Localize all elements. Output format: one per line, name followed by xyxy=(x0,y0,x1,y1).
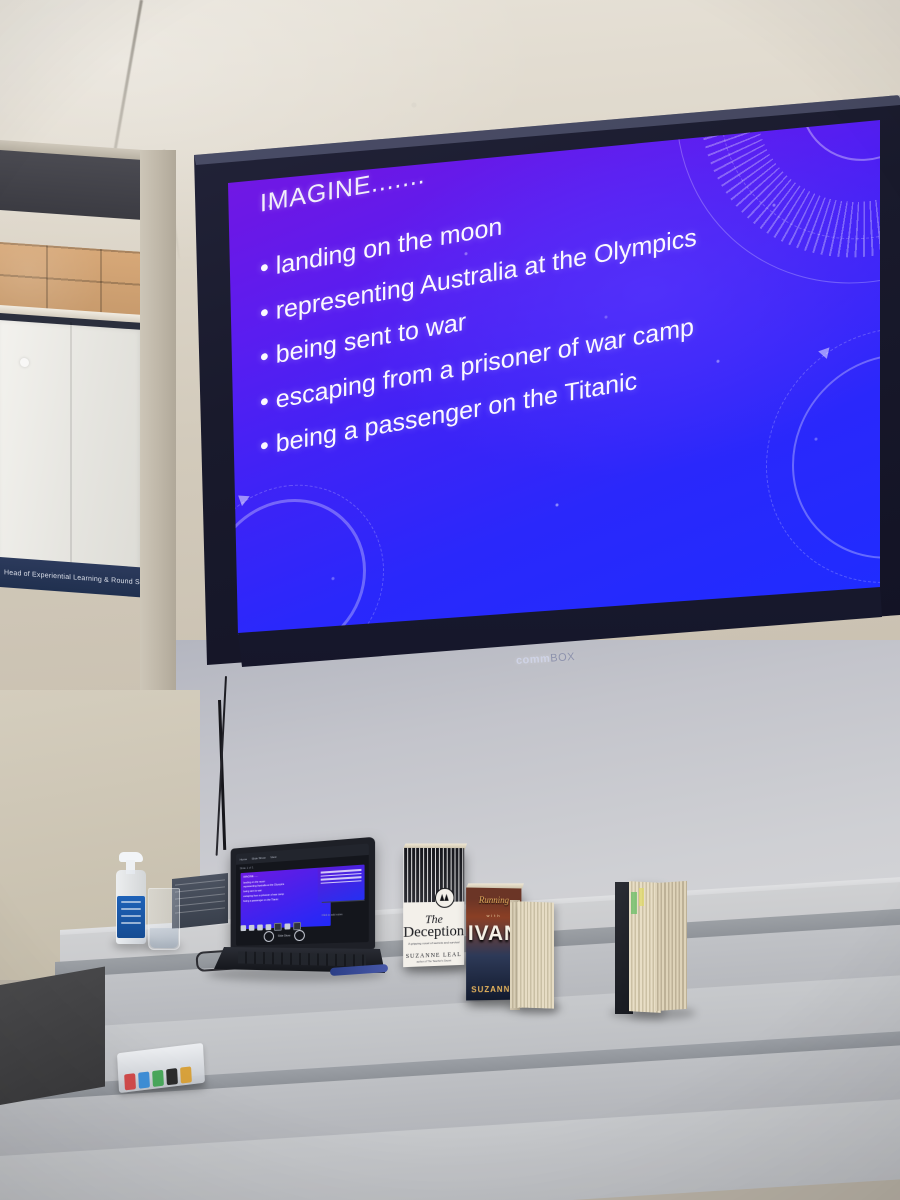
bookmark-tag-icon xyxy=(631,892,637,914)
shapes-icon[interactable] xyxy=(266,924,272,930)
bookmark-tag-icon xyxy=(639,888,644,906)
next-slide-icon[interactable] xyxy=(294,930,305,941)
door-handle-icon[interactable] xyxy=(20,358,29,368)
book-pages-right xyxy=(518,901,554,1008)
marker-cap xyxy=(166,1068,178,1085)
ribbon-tab[interactable]: View xyxy=(270,854,276,858)
compass-tick-label: 150 xyxy=(676,95,688,96)
laptop[interactable]: Home Slide Show View Slide 1 of 1 IMAGIN… xyxy=(210,843,385,978)
laser-pointer-icon[interactable] xyxy=(285,923,291,929)
laptop-notes-pane[interactable]: Click to add notes xyxy=(322,900,365,944)
laptop-slideshow-controls[interactable]: Slide Show xyxy=(264,930,305,942)
previous-slide-icon[interactable] xyxy=(264,931,274,942)
laptop-screen[interactable]: Home Slide Show View Slide 1 of 1 IMAGIN… xyxy=(236,843,369,945)
marker-cap xyxy=(180,1066,192,1083)
laptop-status-text: Slide 1 of 1 xyxy=(240,865,254,870)
book-pages-right xyxy=(655,881,687,1011)
ribbon-tab[interactable]: Slide Show xyxy=(252,855,266,860)
hand-sanitizer-bottle[interactable] xyxy=(116,852,146,944)
display-screen[interactable]: 150 160 170 180 190 200 210 IMAGINE.....… xyxy=(180,95,900,680)
wall-mounted-display[interactable]: 150 160 170 180 190 200 210 IMAGINE.....… xyxy=(180,95,900,695)
bottle-label xyxy=(117,896,145,938)
wall-pilaster xyxy=(140,150,176,710)
award-seal-icon xyxy=(435,888,455,908)
compass-arrow-icon xyxy=(752,95,767,105)
display-brand-logo: commBOX xyxy=(516,651,576,667)
brand-name-light: BOX xyxy=(550,651,575,665)
ribbon-tab[interactable]: Home xyxy=(240,857,247,861)
open-book-large[interactable] xyxy=(615,882,687,1014)
floor-dark-area xyxy=(0,966,105,1105)
laptop-lid: Home Slide Show View Slide 1 of 1 IMAGIN… xyxy=(231,837,375,953)
highlighter-icon[interactable] xyxy=(249,925,255,931)
open-book-small[interactable] xyxy=(510,900,554,1010)
brand-name-bold: comm xyxy=(516,653,551,667)
marker-cap xyxy=(138,1071,150,1088)
drinking-glass[interactable] xyxy=(148,888,180,950)
laptop-slide-thumbnail[interactable] xyxy=(318,865,365,903)
laptop-notes-placeholder: Click to add notes xyxy=(322,913,343,917)
eraser-icon[interactable] xyxy=(257,924,263,930)
book-title-line2: Deception xyxy=(403,923,464,942)
marker-cap xyxy=(152,1070,164,1087)
wall-sign-text: Head of Experiential Learning & Round Sq… xyxy=(0,569,148,587)
presentation-room-photo: Head of Experiential Learning & Round Sq… xyxy=(0,0,900,1200)
slideshow-label: Slide Show xyxy=(278,934,290,937)
marker-cap xyxy=(124,1073,136,1090)
book-the-deception[interactable]: The Deception A gripping novel of secret… xyxy=(403,848,464,967)
slide-canvas: 150 160 170 180 190 200 210 IMAGINE.....… xyxy=(200,95,900,655)
pen-icon[interactable] xyxy=(241,925,246,931)
presentation-app-ribbon[interactable]: Home Slide Show View xyxy=(236,843,369,864)
door-panel-seam xyxy=(70,322,72,566)
book-blurb: A gripping novel of secrets and survival xyxy=(407,940,460,946)
soffit-band xyxy=(0,150,150,220)
book-cover-art xyxy=(403,848,464,903)
